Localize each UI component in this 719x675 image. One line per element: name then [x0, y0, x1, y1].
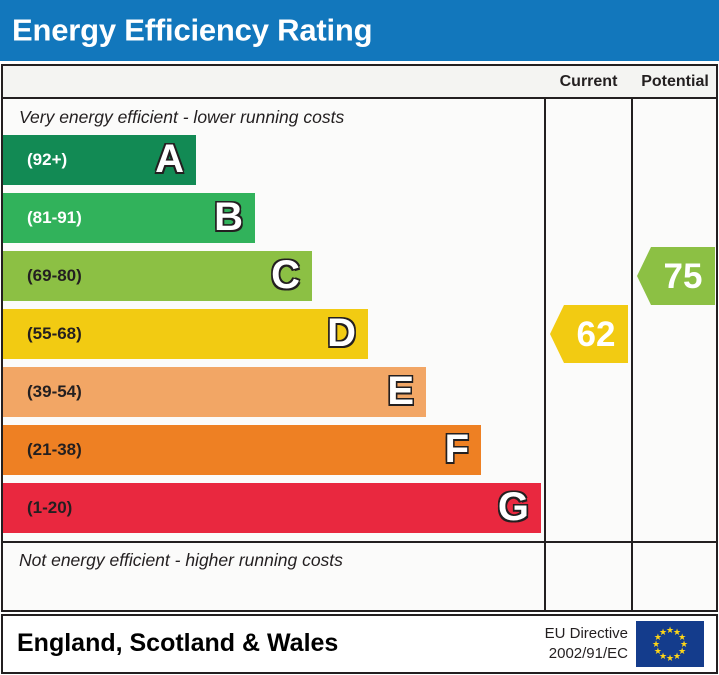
band-row-d: (55-68)D: [3, 309, 368, 359]
column-header-potential: Potential: [632, 66, 718, 97]
eu-star-icon: ★: [673, 652, 681, 660]
footer-directive: EU Directive 2002/91/EC: [545, 624, 628, 664]
band-list: (92+)A(81-91)B(69-80)C(55-68)D(39-54)E(2…: [3, 135, 544, 541]
band-row-e: (39-54)E: [3, 367, 426, 417]
band-range-g: (1-20): [27, 498, 72, 518]
footer-region-label: England, Scotland & Wales: [17, 629, 338, 658]
band-row-f: (21-38)F: [3, 425, 481, 475]
band-letter-b: B: [214, 197, 243, 237]
band-range-e: (39-54): [27, 382, 82, 402]
energy-efficiency-rating-chart: Energy Efficiency Rating Current Potenti…: [0, 0, 719, 675]
footer-directive-line2: 2002/91/EC: [545, 644, 628, 664]
eu-star-icon: ★: [666, 654, 674, 662]
eu-star-icon: ★: [659, 628, 667, 636]
band-row-a: (92+)A: [3, 135, 196, 185]
band-letter-d: D: [327, 313, 356, 353]
current-rating-value: 62: [563, 317, 616, 352]
eu-flag-icon: ★★★★★★★★★★★★: [636, 621, 704, 667]
page-title: Energy Efficiency Rating: [12, 12, 372, 48]
chart-title-bar: Energy Efficiency Rating: [0, 0, 719, 61]
band-letter-g: G: [498, 487, 529, 527]
column-divider-current: [544, 99, 546, 610]
chart-footer: England, Scotland & Wales EU Directive 2…: [1, 614, 718, 674]
potential-rating-value: 75: [650, 259, 703, 294]
potential-rating-arrow: 75: [637, 247, 715, 305]
band-range-f: (21-38): [27, 440, 82, 460]
band-range-a: (92+): [27, 150, 67, 170]
band-range-c: (69-80): [27, 266, 82, 286]
caption-inefficient: Not energy efficient - higher running co…: [3, 541, 544, 577]
band-letter-a: A: [155, 139, 184, 179]
band-range-b: (81-91): [27, 208, 82, 228]
table-header-row: Current Potential: [3, 66, 716, 99]
current-rating-arrow: 62: [550, 305, 628, 363]
band-range-d: (55-68): [27, 324, 82, 344]
footer-directive-line1: EU Directive: [545, 624, 628, 644]
band-letter-c: C: [271, 255, 300, 295]
caption-efficient: Very energy efficient - lower running co…: [3, 99, 544, 135]
band-letter-e: E: [387, 371, 414, 411]
band-row-b: (81-91)B: [3, 193, 255, 243]
band-row-g: (1-20)G: [3, 483, 541, 533]
column-divider-potential: [631, 99, 633, 610]
rating-table: Current Potential Very energy efficient …: [1, 64, 718, 612]
column-header-current: Current: [545, 66, 632, 97]
band-letter-f: F: [445, 429, 469, 469]
band-row-c: (69-80)C: [3, 251, 312, 301]
